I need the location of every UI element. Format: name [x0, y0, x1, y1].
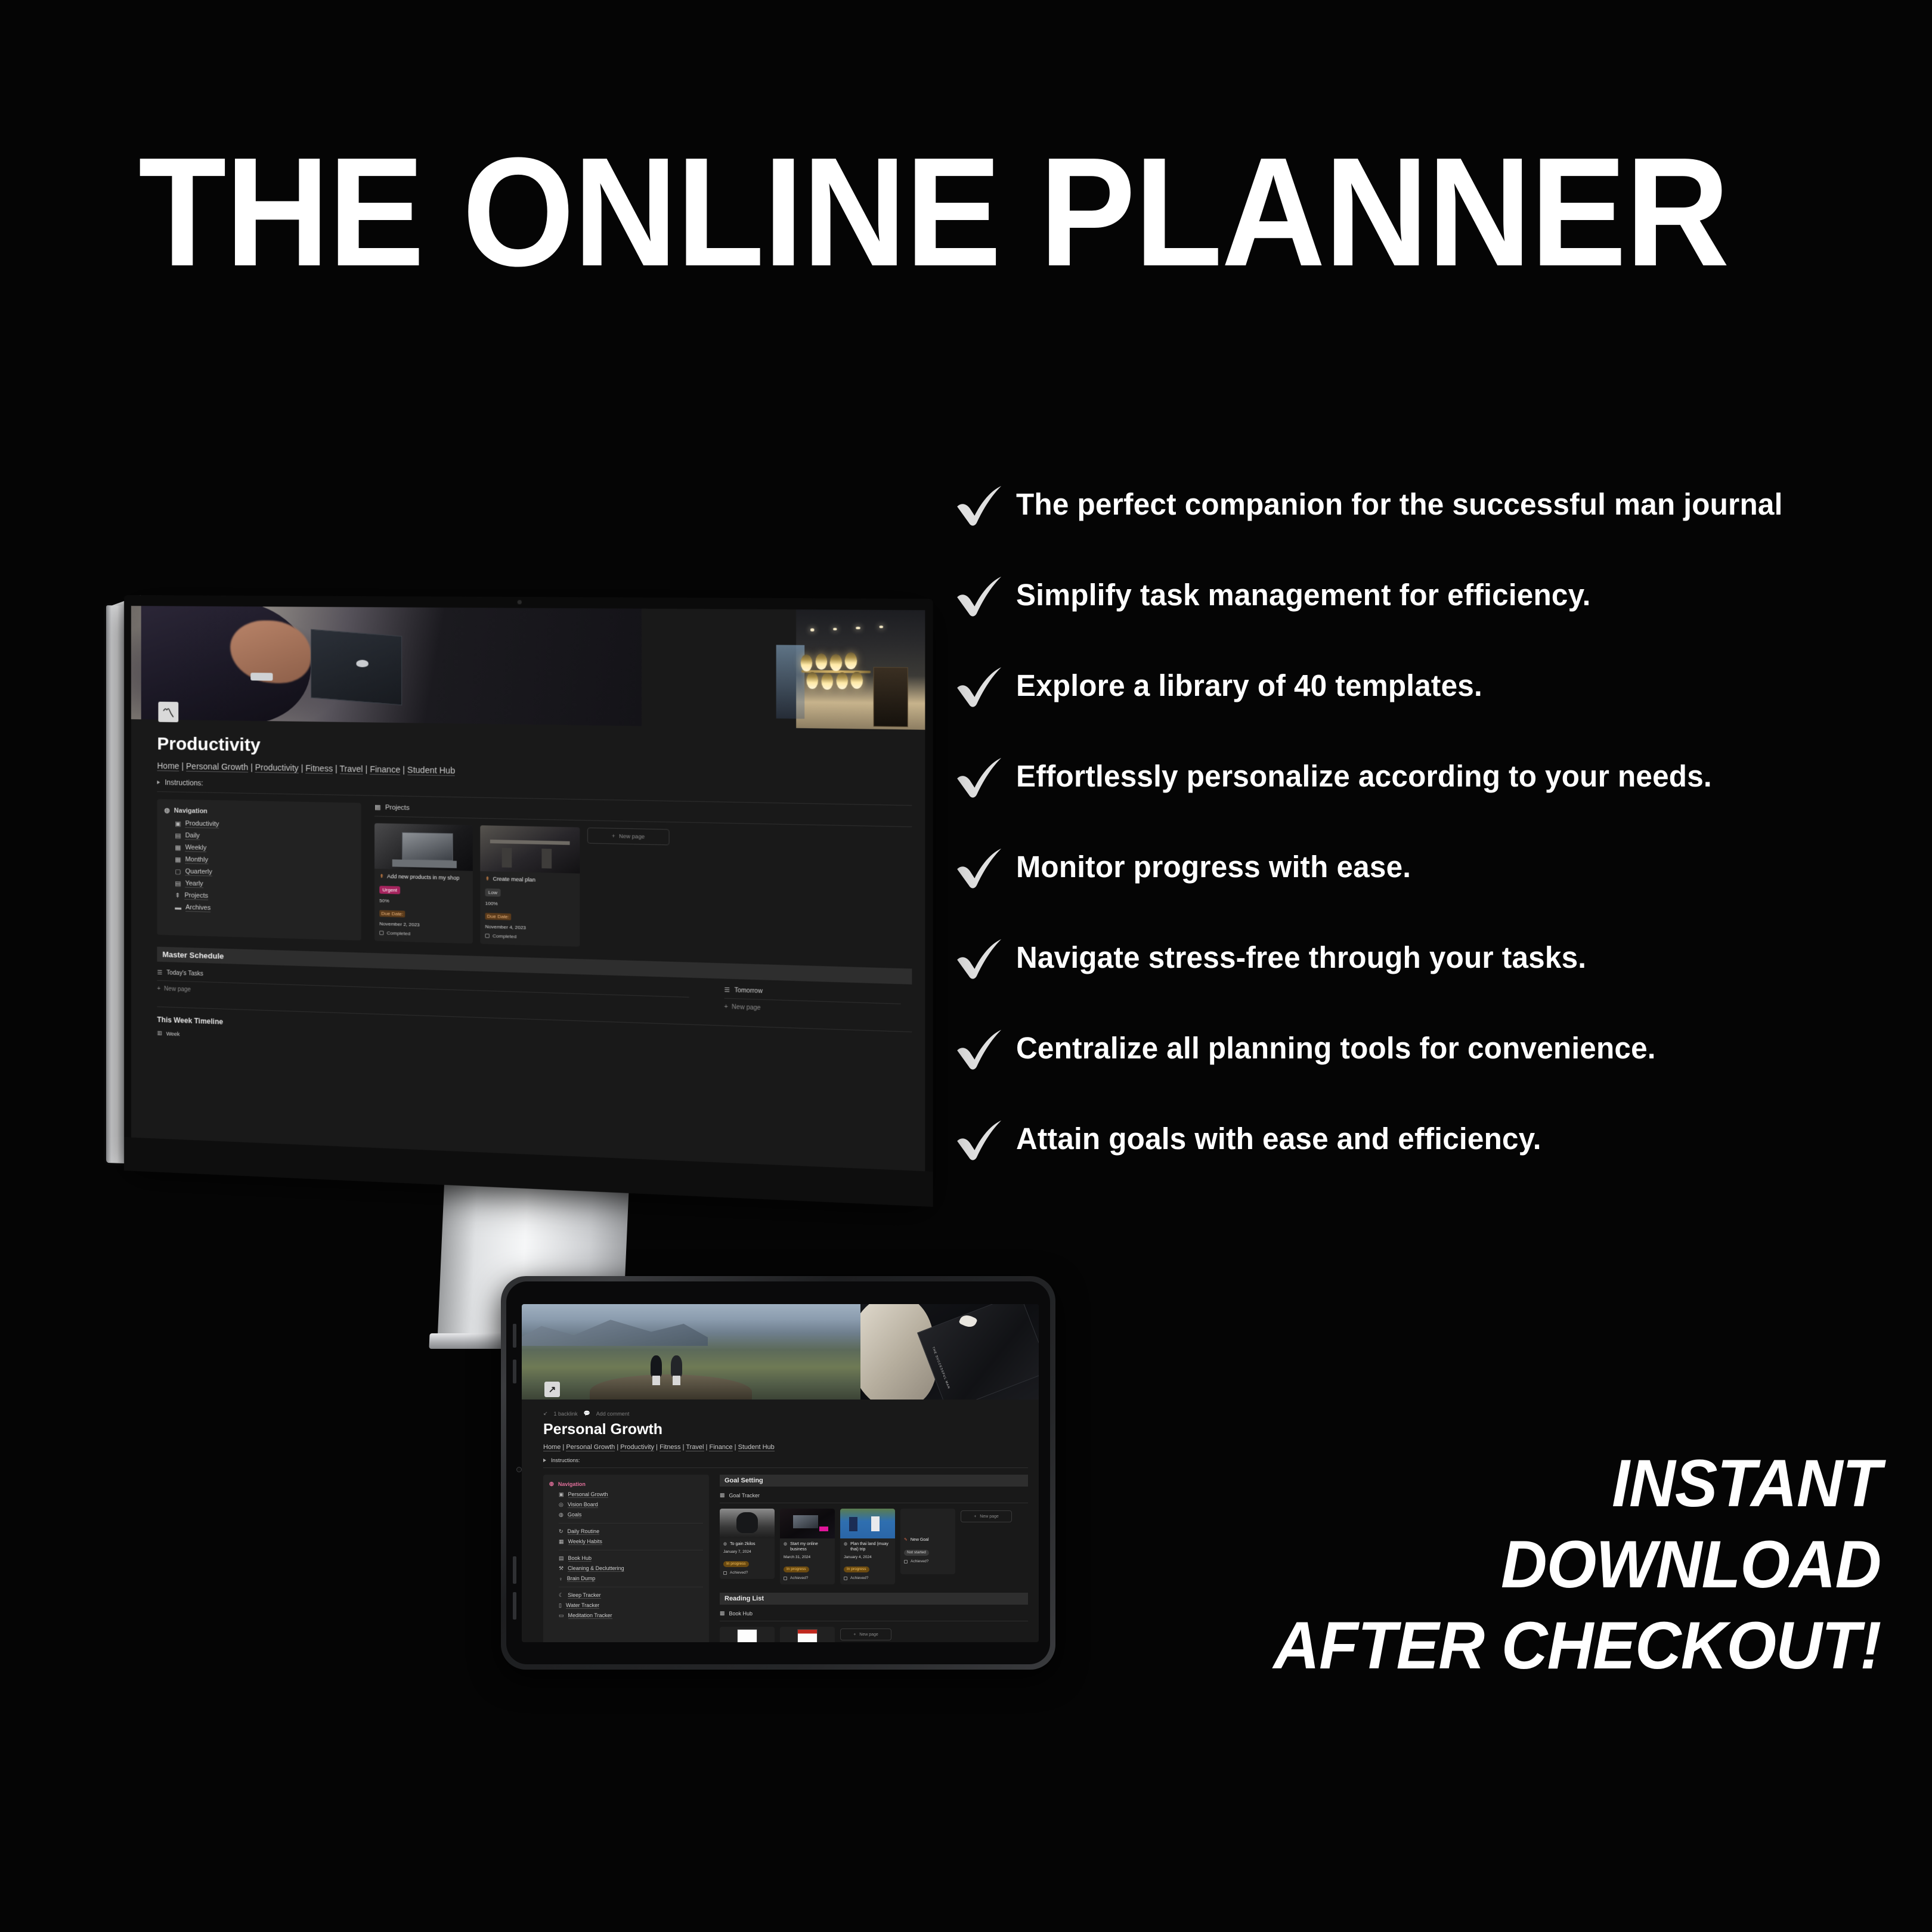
- comment-icon: 💬: [584, 1410, 590, 1417]
- card-title: ⇞ Create meal plan: [485, 875, 575, 884]
- monitor-bezel: 〽 Productivity Home | Personal Growth | …: [124, 595, 933, 1207]
- card-title: ◍ Start my online business: [784, 1541, 831, 1552]
- card-title: ◍ To gain 2kilos: [723, 1541, 771, 1547]
- reading-list-heading: Reading List: [720, 1593, 1028, 1605]
- project-card[interactable]: ⇞ Create meal plan Low 100% Du: [480, 825, 580, 947]
- list-item: Navigate stress-free through your tasks.: [954, 912, 1902, 1003]
- cover-image-desk: [131, 606, 642, 726]
- bulb-icon: ♀: [559, 1576, 563, 1582]
- plus-icon: +: [974, 1515, 976, 1519]
- check-icon: [954, 569, 1005, 621]
- status-badge: In progress: [784, 1566, 809, 1572]
- meditation-icon: ▭: [559, 1612, 564, 1619]
- webcam-icon: [518, 600, 522, 604]
- dart-icon: ◍: [784, 1541, 787, 1547]
- page-cover: THE SUCCESSFUL MAN: [522, 1304, 1039, 1400]
- sidebar-item-vision-board[interactable]: ◎ Vision Board: [559, 1501, 703, 1508]
- folder-icon: ▬: [175, 904, 181, 911]
- book-hub-db-header[interactable]: ▩ Book Hub: [720, 1610, 1028, 1617]
- refresh-icon: ↻: [559, 1528, 563, 1535]
- list-item: Explore a library of 40 templates.: [954, 640, 1902, 731]
- broom-icon: ⚒: [559, 1565, 563, 1572]
- calendar-week-icon: ▦: [175, 844, 181, 852]
- page-title: Personal Growth: [543, 1420, 1028, 1438]
- calendar-day-icon: ▤: [175, 832, 181, 840]
- backlink-icon: ↙: [543, 1410, 548, 1417]
- card-title: ✎ New Goal: [904, 1537, 952, 1543]
- book-cover-image: [720, 1627, 775, 1642]
- chandelier-icon: [799, 652, 874, 691]
- breadcrumb-personal-growth[interactable]: Personal Growth: [186, 761, 248, 773]
- plus-icon: +: [157, 986, 160, 992]
- navigation-panel: ◍ Navigation ▣ Productivity ▤ D: [157, 799, 361, 940]
- checkbox-icon: [723, 1571, 727, 1575]
- page-cover: [131, 606, 925, 730]
- power-button[interactable]: [513, 1556, 516, 1584]
- volume-button-up[interactable]: [513, 1324, 516, 1348]
- breadcrumb-student-hub[interactable]: Student Hub: [738, 1444, 775, 1451]
- monitor-bezel-side: [106, 605, 126, 1163]
- checkbox-icon: [784, 1577, 787, 1580]
- due-date-value: November 2, 2023: [379, 921, 467, 929]
- breadcrumb-productivity[interactable]: Productivity: [255, 763, 299, 773]
- list-icon: ☰: [157, 970, 162, 976]
- goal-card[interactable]: ◍ Plan thai land (muay thai) trip Januar…: [840, 1509, 895, 1584]
- sidebar-item-cleaning-decluttering[interactable]: ⚒ Cleaning & Decluttering: [559, 1565, 703, 1572]
- timeline-icon: ▥: [157, 1030, 162, 1036]
- achieved-checkbox[interactable]: Achieved?: [784, 1576, 831, 1580]
- progress-value: 100%: [485, 900, 575, 908]
- checkbox-icon: [844, 1577, 847, 1580]
- list-item-label: Attain goals with ease and efficiency.: [1016, 1122, 1541, 1156]
- priority-badge: Urgent: [379, 885, 400, 894]
- instructions-toggle[interactable]: Instructions:: [157, 778, 912, 800]
- list-item: Monitor progress with ease.: [954, 822, 1902, 912]
- window-icon: ▣: [559, 1491, 564, 1498]
- completed-checkbox[interactable]: Completed: [379, 930, 467, 938]
- sidebar-item-archives[interactable]: ▬ Archives: [175, 903, 354, 916]
- breadcrumb-fitness[interactable]: Fitness: [660, 1444, 680, 1451]
- window-icon: ▣: [175, 820, 181, 828]
- list-item-label: Simplify task management for efficiency.: [1016, 578, 1591, 612]
- breadcrumb-finance[interactable]: Finance: [370, 764, 400, 775]
- tablet-screen: THE SUCCESSFUL MAN ↗ ↙ 1 backlink 💬 Add …: [522, 1304, 1039, 1642]
- glass-icon: ▯: [559, 1602, 562, 1609]
- sidebar-item-meditation-tracker[interactable]: ▭ Meditation Tracker: [559, 1612, 703, 1619]
- sidebar-item-personal-growth[interactable]: ▣ Personal Growth: [559, 1491, 703, 1498]
- cta-line-3: AFTER CHECKOUT!: [1273, 1605, 1881, 1686]
- sidebar-item-productivity[interactable]: ▣ Productivity: [175, 820, 354, 831]
- due-date-value: November 4, 2023: [485, 924, 575, 931]
- list-icon: ☰: [724, 987, 730, 994]
- checkbox-icon: [485, 934, 490, 938]
- breadcrumb[interactable]: Home | Personal Growth | Productivity | …: [543, 1444, 1028, 1451]
- achieved-checkbox[interactable]: Achieved?: [844, 1576, 891, 1580]
- cover-image-journal: THE SUCCESSFUL MAN: [860, 1304, 1039, 1400]
- new-page-button[interactable]: + New page: [724, 1004, 912, 1017]
- sidebar-item-weekly-habits[interactable]: ▦ Weekly Habits: [559, 1538, 703, 1545]
- target-icon: ◎: [559, 1501, 563, 1508]
- backlink-count[interactable]: 1 backlink: [554, 1411, 578, 1417]
- sidebar-item-yearly[interactable]: ▤ Yearly: [175, 880, 354, 892]
- compass-icon: ◍: [164, 806, 170, 814]
- breadcrumb-productivity[interactable]: Productivity: [620, 1444, 654, 1451]
- card-cover-image: [480, 825, 580, 874]
- breadcrumb-home[interactable]: Home: [543, 1444, 561, 1451]
- tablet-bezel: THE SUCCESSFUL MAN ↗ ↙ 1 backlink 💬 Add …: [501, 1276, 1055, 1670]
- front-camera-icon: [516, 1467, 522, 1472]
- sidebar-item-goals[interactable]: ◍ Goals: [559, 1512, 703, 1518]
- rocket-icon: ⇞: [485, 875, 490, 882]
- cta-line-2: DOWNLOAD: [1273, 1524, 1881, 1605]
- page-title: THE ONLINE PLANNER: [138, 141, 1735, 284]
- list-item-label: Effortlessly personalize according to yo…: [1016, 760, 1712, 793]
- list-item-label: Centralize all planning tools for conven…: [1016, 1032, 1656, 1065]
- sidebar-item-monthly[interactable]: ▦ Monthly: [175, 856, 354, 868]
- list-item: Simplify task management for efficiency.: [954, 550, 1902, 640]
- goal-date: January 4, 2024: [844, 1555, 891, 1559]
- achieved-checkbox[interactable]: Achieved?: [723, 1571, 771, 1575]
- cover-image-interior: [642, 609, 925, 730]
- book-icon: ▤: [559, 1555, 564, 1562]
- status-badge: Not started: [904, 1550, 929, 1556]
- sidebar-item-book-hub[interactable]: ▤ Book Hub: [559, 1555, 703, 1562]
- page-meta: ↙ 1 backlink 💬 Add comment: [543, 1410, 1028, 1417]
- breadcrumb-travel[interactable]: Travel: [686, 1444, 704, 1451]
- new-page-button[interactable]: + New page: [840, 1628, 891, 1640]
- status-badge: In progress: [723, 1561, 749, 1567]
- gallery-icon: ▩: [720, 1610, 725, 1617]
- cta-line-1: INSTANT: [1273, 1443, 1881, 1524]
- monitor-screen: 〽 Productivity Home | Personal Growth | …: [131, 606, 925, 1171]
- due-date-label: Due Date:: [485, 913, 512, 920]
- list-item-label: Monitor progress with ease.: [1016, 850, 1411, 884]
- book-card[interactable]: ▥ The 7 Habits of Highly Effective Peopl…: [720, 1627, 775, 1642]
- checkbox-icon: [379, 931, 383, 935]
- instructions-label: Instructions:: [165, 778, 203, 787]
- gallery-icon: ▩: [374, 803, 381, 811]
- card-title: ⇞ Add new products in my shop: [379, 873, 467, 882]
- sidebar-item-daily[interactable]: ▤ Daily: [175, 832, 354, 844]
- rocket-icon: ⇞: [175, 891, 180, 899]
- card-cover-image: [374, 823, 473, 871]
- add-comment-button[interactable]: Add comment: [596, 1411, 630, 1417]
- breadcrumb-student-hub[interactable]: Student Hub: [407, 765, 455, 776]
- list-item: Attain goals with ease and efficiency.: [954, 1094, 1902, 1184]
- chevron-right-icon: [543, 1459, 546, 1462]
- dart-icon: ◍: [559, 1512, 563, 1518]
- completed-checkbox[interactable]: Completed: [485, 933, 575, 941]
- breadcrumb-fitness[interactable]: Fitness: [305, 763, 333, 774]
- check-icon: [954, 660, 1005, 711]
- status-badge: In progress: [844, 1566, 869, 1572]
- sidebar-item-sleep-tracker[interactable]: ☾ Sleep Tracker: [559, 1592, 703, 1599]
- list-item-label: Explore a library of 40 templates.: [1016, 669, 1482, 702]
- page-icon: 〽: [158, 702, 178, 723]
- tablet-mockup: THE SUCCESSFUL MAN ↗ ↙ 1 backlink 💬 Add …: [501, 1276, 1055, 1670]
- pen-icon: ✎: [904, 1537, 908, 1543]
- power-button-secondary[interactable]: [513, 1592, 516, 1620]
- breadcrumb-home[interactable]: Home: [157, 761, 179, 772]
- dart-icon: ◍: [723, 1541, 727, 1547]
- rocket-icon: ⇞: [379, 873, 384, 880]
- breadcrumb-travel[interactable]: Travel: [339, 764, 363, 775]
- page-icon: ↗: [544, 1382, 560, 1397]
- list-item-label: The perfect companion for the successful…: [1016, 488, 1783, 521]
- volume-button-down[interactable]: [513, 1360, 516, 1383]
- check-icon: [954, 932, 1005, 983]
- notion-page-productivity: 〽 Productivity Home | Personal Growth | …: [131, 606, 925, 1171]
- sidebar-item-weekly[interactable]: ▦ Weekly: [175, 844, 354, 856]
- calendar-quarter-icon: ▢: [175, 868, 181, 875]
- check-icon: [954, 479, 1005, 530]
- compass-icon: ◍: [549, 1481, 554, 1487]
- page-title: Productivity: [157, 734, 912, 766]
- goal-tracker-db-header[interactable]: ▩ Goal Tracker: [720, 1492, 1028, 1498]
- card-cover-image: [720, 1509, 775, 1538]
- projects-panel: ▩ Projects: [361, 803, 912, 956]
- breadcrumb-finance[interactable]: Finance: [709, 1444, 732, 1451]
- projects-db-header[interactable]: ▩ Projects: [374, 803, 912, 822]
- moon-icon: ☾: [559, 1592, 563, 1599]
- list-item-label: Navigate stress-free through your tasks.: [1016, 941, 1586, 974]
- achieved-checkbox[interactable]: Achieved?: [904, 1559, 952, 1563]
- sidebar-item-water-tracker[interactable]: ▯ Water Tracker: [559, 1602, 703, 1609]
- calendar-month-icon: ▦: [175, 856, 181, 863]
- breadcrumb-personal-growth[interactable]: Personal Growth: [566, 1444, 615, 1451]
- plus-icon: +: [853, 1633, 856, 1637]
- card-title: ◍ Plan thai land (muay thai) trip: [844, 1541, 891, 1552]
- goal-date: March 31, 2024: [784, 1555, 831, 1559]
- book-card[interactable]: ▥ The 12 Week Year ★★★★ 50%: [780, 1627, 835, 1642]
- goal-card-new[interactable]: ✎ New Goal Not started Achi: [900, 1509, 955, 1574]
- calendar-week-icon: ▦: [559, 1538, 564, 1545]
- cover-image-mountain: [522, 1304, 860, 1400]
- instructions-toggle[interactable]: Instructions:: [543, 1457, 1028, 1463]
- new-page-button[interactable]: + New page: [587, 828, 670, 846]
- plus-icon: +: [612, 833, 615, 839]
- progress-value: 50%: [379, 898, 467, 906]
- new-page-button[interactable]: + New page: [961, 1510, 1012, 1522]
- list-item: Effortlessly personalize according to yo…: [954, 731, 1902, 822]
- check-icon: [954, 1113, 1005, 1165]
- sidebar-item-brain-dump[interactable]: ♀ Brain Dump: [559, 1575, 703, 1582]
- instructions-label: Instructions:: [551, 1457, 580, 1463]
- chevron-right-icon: [157, 781, 160, 784]
- goal-setting-heading: Goal Setting: [720, 1475, 1028, 1487]
- feature-list: The perfect companion for the successful…: [954, 459, 1902, 1184]
- plus-icon: +: [724, 1004, 727, 1011]
- book-cover-image: [780, 1627, 835, 1642]
- card-cover-image: [780, 1509, 835, 1538]
- check-icon: [954, 841, 1005, 893]
- check-icon: [954, 751, 1005, 802]
- navigation-title: ◍ Navigation: [549, 1481, 703, 1487]
- goal-card[interactable]: ◍ To gain 2kilos January 7, 2024 In prog…: [720, 1509, 775, 1579]
- notion-page-personal-growth: THE SUCCESSFUL MAN ↗ ↙ 1 backlink 💬 Add …: [522, 1304, 1039, 1642]
- checkbox-icon: [904, 1560, 908, 1563]
- list-item: Centralize all planning tools for conven…: [954, 1003, 1902, 1094]
- calendar-year-icon: ▤: [175, 880, 181, 887]
- goal-card[interactable]: ◍ Start my online business March 31, 202…: [780, 1509, 835, 1584]
- sidebar-item-quarterly[interactable]: ▢ Quarterly: [175, 868, 354, 880]
- tomorrow-header[interactable]: ☰ Tomorrow: [724, 987, 912, 999]
- sidebar-item-daily-routine[interactable]: ↻ Daily Routine: [559, 1528, 703, 1535]
- sidebar-item-projects[interactable]: ⇞ Projects: [175, 891, 354, 904]
- list-item: The perfect companion for the successful…: [954, 459, 1902, 550]
- due-date-label: Due Date:: [379, 910, 405, 917]
- check-icon: [954, 1023, 1005, 1074]
- navigation-title: ◍ Navigation: [164, 806, 354, 818]
- goal-date: January 7, 2024: [723, 1550, 771, 1554]
- gallery-icon: ▩: [720, 1492, 725, 1498]
- navigation-panel: ◍ Navigation ▣ Personal Growth ◎: [543, 1475, 709, 1642]
- dart-icon: ◍: [844, 1541, 847, 1547]
- instant-download-callout: INSTANT DOWNLOAD AFTER CHECKOUT!: [1273, 1443, 1881, 1686]
- project-card[interactable]: ⇞ Add new products in my shop Urgent 50%: [374, 823, 473, 943]
- card-cover-image: [840, 1509, 895, 1538]
- priority-badge: Low: [485, 888, 501, 897]
